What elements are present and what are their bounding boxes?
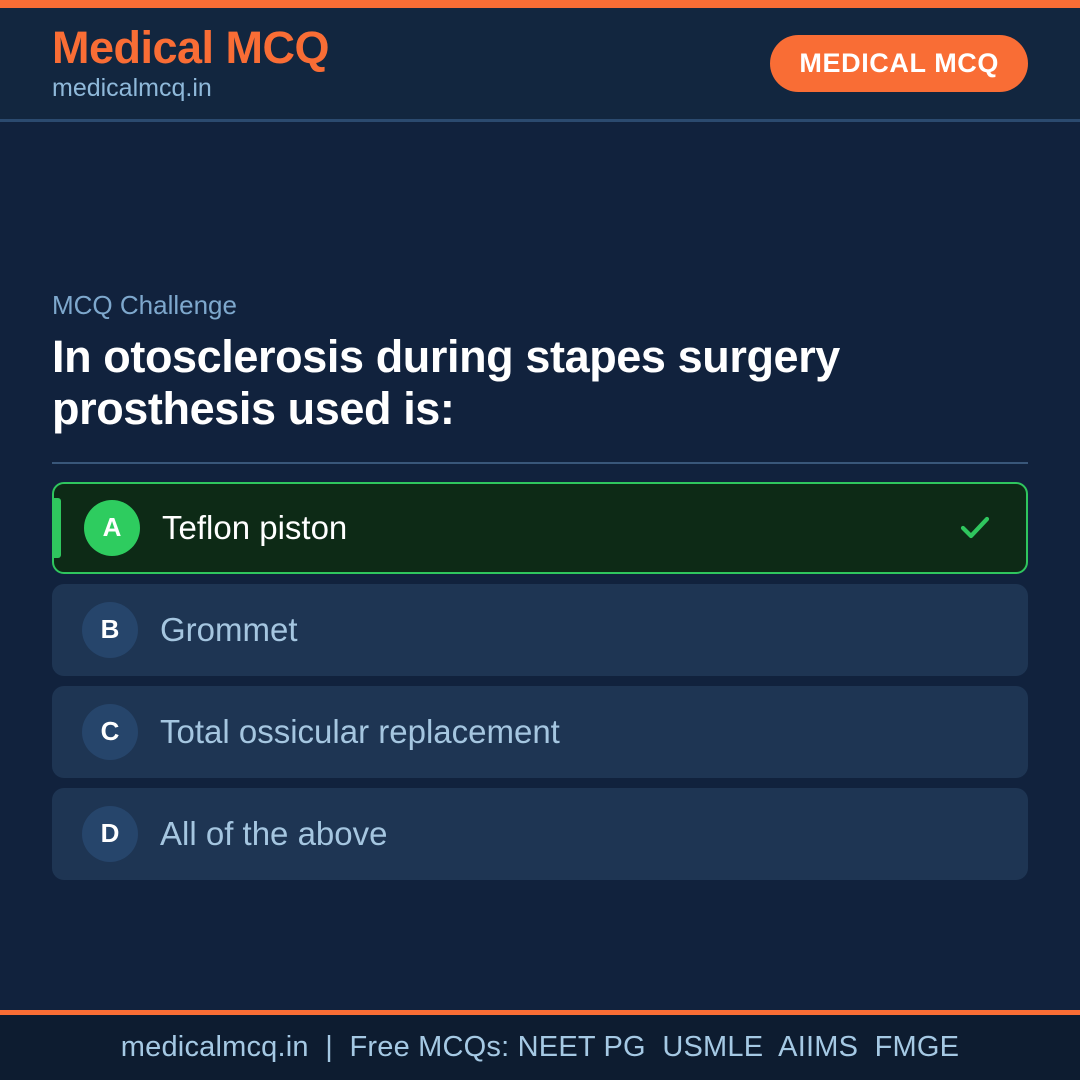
- option-row-b[interactable]: B Grommet: [52, 584, 1028, 676]
- footer-bar: medicalmcq.in | Free MCQs: NEET PG USMLE…: [0, 1015, 1080, 1080]
- option-letter-d: D: [82, 806, 138, 862]
- option-text-b: Grommet: [160, 610, 994, 650]
- brand-block: Medical MCQ medicalmcq.in: [52, 24, 329, 104]
- option-text-d: All of the above: [160, 814, 994, 854]
- brand-title: Medical MCQ: [52, 24, 329, 72]
- option-letter-b: B: [82, 602, 138, 658]
- option-row-d[interactable]: D All of the above: [52, 788, 1028, 880]
- content-area: MCQ Challenge In otosclerosis during sta…: [0, 122, 1080, 1010]
- check-icon: [958, 511, 992, 545]
- options-list: A Teflon piston B Grommet C Total ossicu…: [52, 482, 1028, 880]
- mcq-card: Medical MCQ medicalmcq.in MEDICAL MCQ MC…: [0, 0, 1080, 1080]
- question-divider: [52, 462, 1028, 464]
- question-text: In otosclerosis during stapes surgery pr…: [52, 331, 952, 435]
- option-text-a: Teflon piston: [162, 508, 958, 548]
- question-block: MCQ Challenge In otosclerosis during sta…: [52, 290, 1028, 436]
- option-letter-a: A: [84, 500, 140, 556]
- option-letter-c: C: [82, 704, 138, 760]
- top-accent-bar: [0, 0, 1080, 8]
- header-bar: Medical MCQ medicalmcq.in MEDICAL MCQ: [0, 8, 1080, 122]
- option-row-c[interactable]: C Total ossicular replacement: [52, 686, 1028, 778]
- footer-text: medicalmcq.in | Free MCQs: NEET PG USMLE…: [121, 1031, 959, 1064]
- brand-subtitle: medicalmcq.in: [52, 73, 329, 103]
- header-badge: MEDICAL MCQ: [770, 35, 1028, 92]
- option-text-c: Total ossicular replacement: [160, 712, 994, 752]
- eyebrow-label: MCQ Challenge: [52, 290, 1028, 321]
- option-row-a[interactable]: A Teflon piston: [52, 482, 1028, 574]
